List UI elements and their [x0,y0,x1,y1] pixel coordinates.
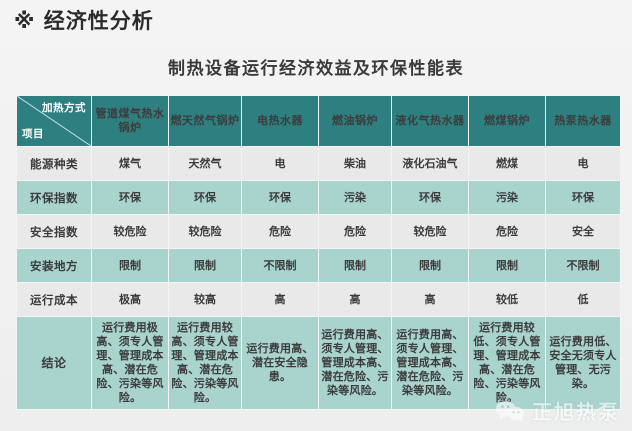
cell: 危险 [319,215,391,248]
cell: 污染 [469,181,545,214]
table-row: 运行成本 极高 较高 高 高 高 较低 低 [17,283,620,316]
cell: 电 [546,147,620,180]
column-header-7: 热泵热水器 [546,96,620,146]
cell: 天然气 [169,147,241,180]
cell: 液化石油气 [392,147,468,180]
cell: 较低 [469,283,545,316]
row-label-energy-type: 能源种类 [17,147,91,180]
conclusion-cell: 运行费用高、潜在安全隐患。 [242,317,318,409]
column-header-4: 燃油锅炉 [319,96,391,146]
table-body: 能源种类 煤气 天然气 电 柴油 液化石油气 燃煤 电 环保指数 环保 环保 环… [17,147,620,409]
corner-label-item: 项目 [22,127,44,141]
cell: 煤气 [92,147,168,180]
table-row: 安全指数 较危险 较危险 危险 危险 较危险 危险 安全 [17,215,620,248]
corner-label-heating-method: 加热方式 [42,101,86,115]
cell: 燃煤 [469,147,545,180]
cell: 低 [546,283,620,316]
cell: 柴油 [319,147,391,180]
cell: 高 [319,283,391,316]
column-header-5: 液化气热水器 [392,96,468,146]
conclusion-cell: 运行费用极高、须专人管理、管理成本高、潜在危险、污染等风险。 [92,317,168,409]
cell: 环保 [242,181,318,214]
cell: 环保 [169,181,241,214]
conclusion-cell: 运行费用高、须专人管理、管理成本高、潜在危险、污染等风险。 [319,317,391,409]
table-row: 安装地方 限制 限制 不限制 限制 限制 限制 不限制 [17,249,620,282]
column-header-6: 燃煤锅炉 [469,96,545,146]
cell: 限制 [169,249,241,282]
table-header: 加热方式 项目 管道煤气热水锅炉 燃天然气锅炉 电热水器 燃油锅炉 液化气热水器… [17,96,620,146]
column-header-1: 管道煤气热水锅炉 [92,96,168,146]
table-title: 制热设备运行经济效益及环保性能表 [0,54,632,79]
column-header-2: 燃天然气锅炉 [169,96,241,146]
row-label-environmental-index: 环保指数 [17,181,91,214]
cell: 较危险 [392,215,468,248]
cell: 较危险 [169,215,241,248]
cell: 限制 [92,249,168,282]
table-row: 环保指数 环保 环保 环保 污染 环保 污染 环保 [17,181,620,214]
page-title: ※ 经济性分析 [14,6,154,36]
cell: 高 [392,283,468,316]
cell: 高 [242,283,318,316]
wechat-icon [495,399,525,423]
watermark: 正旭热泵 [495,396,620,425]
cell: 较高 [169,283,241,316]
row-label-conclusion: 结论 [17,317,91,409]
table-container: 加热方式 项目 管道煤气热水锅炉 燃天然气锅炉 电热水器 燃油锅炉 液化气热水器… [16,95,616,410]
cell: 不限制 [546,249,620,282]
cell: 危险 [242,215,318,248]
cell: 不限制 [242,249,318,282]
table-row: 能源种类 煤气 天然气 电 柴油 液化石油气 燃煤 电 [17,147,620,180]
row-label-safety-index: 安全指数 [17,215,91,248]
row-label-operating-cost: 运行成本 [17,283,91,316]
cell: 环保 [392,181,468,214]
conclusion-cell: 运行费用高、须专人管理、管理成本高、潜在危险、污染等风险。 [392,317,468,409]
cell: 电 [242,147,318,180]
page-root: ※ 经济性分析 制热设备运行经济效益及环保性能表 [0,0,632,431]
header-row: 加热方式 项目 管道煤气热水锅炉 燃天然气锅炉 电热水器 燃油锅炉 液化气热水器… [17,96,620,146]
cell: 限制 [392,249,468,282]
watermark-text: 正旭热泵 [532,396,620,425]
header-corner-cell: 加热方式 项目 [17,96,91,146]
conclusion-cell: 运行费用较高、须专人管理、管理成本高、潜在危险、污染等风险。 [169,317,241,409]
cell: 安全 [546,215,620,248]
row-label-installation-location: 安装地方 [17,249,91,282]
cell: 极高 [92,283,168,316]
cell: 危险 [469,215,545,248]
cell: 较危险 [92,215,168,248]
economic-comparison-table: 加热方式 项目 管道煤气热水锅炉 燃天然气锅炉 电热水器 燃油锅炉 液化气热水器… [16,95,621,410]
cell: 限制 [319,249,391,282]
column-header-3: 电热水器 [242,96,318,146]
cell: 环保 [546,181,620,214]
cell: 限制 [469,249,545,282]
cell: 污染 [319,181,391,214]
cell: 环保 [92,181,168,214]
